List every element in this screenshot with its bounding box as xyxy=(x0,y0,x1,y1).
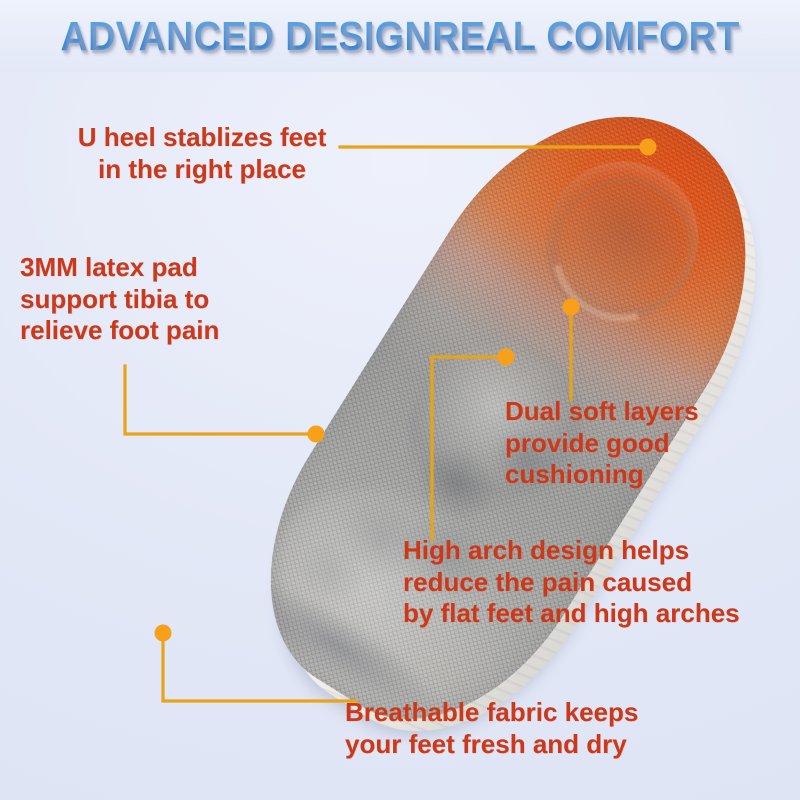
page-title: ADVANCED DESIGNREAL COMFORT xyxy=(0,8,800,64)
callout-breathable: Breathable fabric keeps your feet fresh … xyxy=(345,697,705,760)
infographic-canvas: ADVANCED DESIGNREAL COMFORT xyxy=(0,0,800,800)
callout-latex-pad: 3MM latex pad support tibia to relieve f… xyxy=(20,252,290,347)
page-title-text: ADVANCED DESIGNREAL COMFORT xyxy=(60,13,739,60)
callout-u-heel: U heel stablizes feet in the right place xyxy=(52,122,352,185)
callout-dual-layers: Dual soft layers provide good cushioning xyxy=(505,396,800,491)
callout-high-arch: High arch design helps reduce the pain c… xyxy=(403,535,800,630)
